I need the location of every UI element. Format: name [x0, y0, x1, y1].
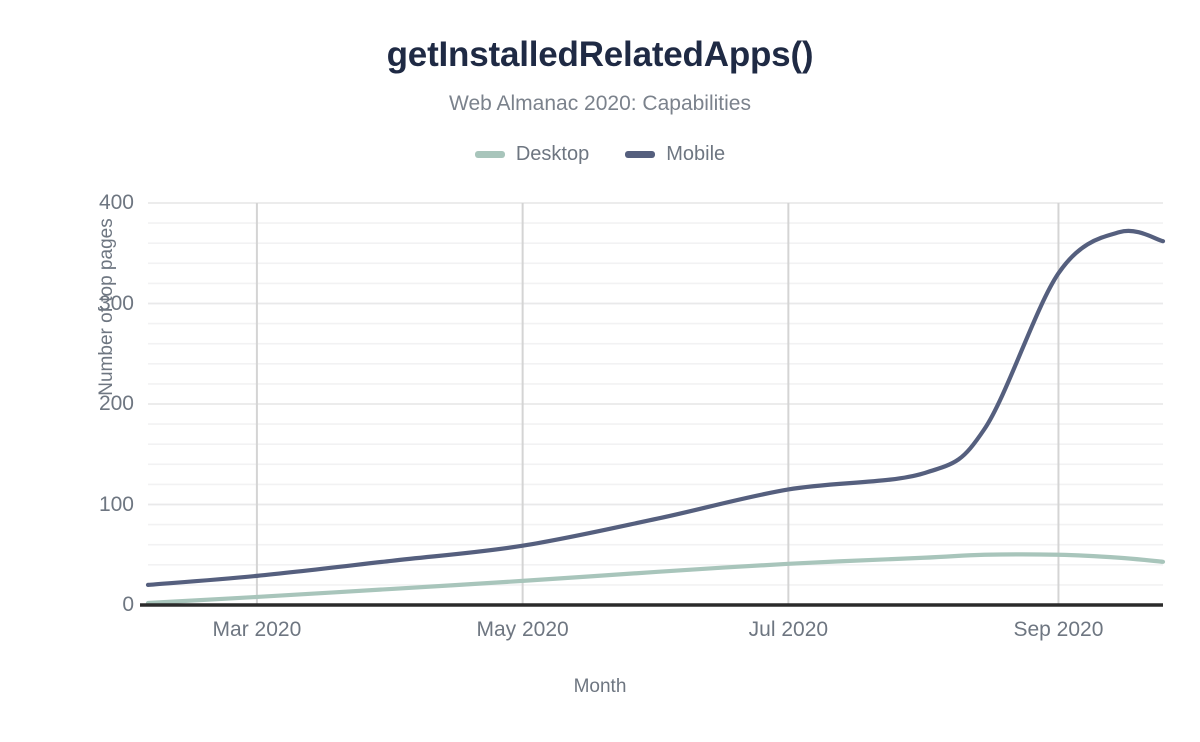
x-tick-label: Mar 2020 [167, 619, 347, 640]
chart-subtitle: Web Almanac 2020: Capabilities [0, 90, 1200, 118]
legend-item-desktop[interactable]: Desktop [475, 142, 589, 166]
y-tick-label: 200 [54, 393, 134, 414]
y-tick-label: 0 [54, 594, 134, 615]
gridlines-major [148, 203, 1163, 505]
x-tick-label: Jul 2020 [698, 619, 878, 640]
y-tick-label: 400 [54, 192, 134, 213]
legend-label-mobile: Mobile [666, 142, 725, 166]
chart-legend: Desktop Mobile [0, 142, 1200, 166]
legend-item-mobile[interactable]: Mobile [625, 142, 725, 166]
legend-label-desktop: Desktop [516, 142, 589, 166]
series-lines [148, 231, 1163, 603]
line-chart: getInstalledRelatedApps() Web Almanac 20… [0, 0, 1200, 742]
legend-swatch-desktop [475, 151, 505, 158]
chart-title: getInstalledRelatedApps() [0, 33, 1200, 77]
series-line-desktop [148, 554, 1163, 603]
x-tick-label: May 2020 [433, 619, 613, 640]
x-tick-label: Sep 2020 [968, 619, 1148, 640]
x-axis-title: Month [0, 676, 1200, 698]
legend-swatch-mobile [625, 151, 655, 158]
y-tick-label: 100 [54, 494, 134, 515]
y-tick-label: 300 [54, 293, 134, 314]
plot-area [148, 203, 1163, 605]
plot-svg [148, 203, 1163, 605]
